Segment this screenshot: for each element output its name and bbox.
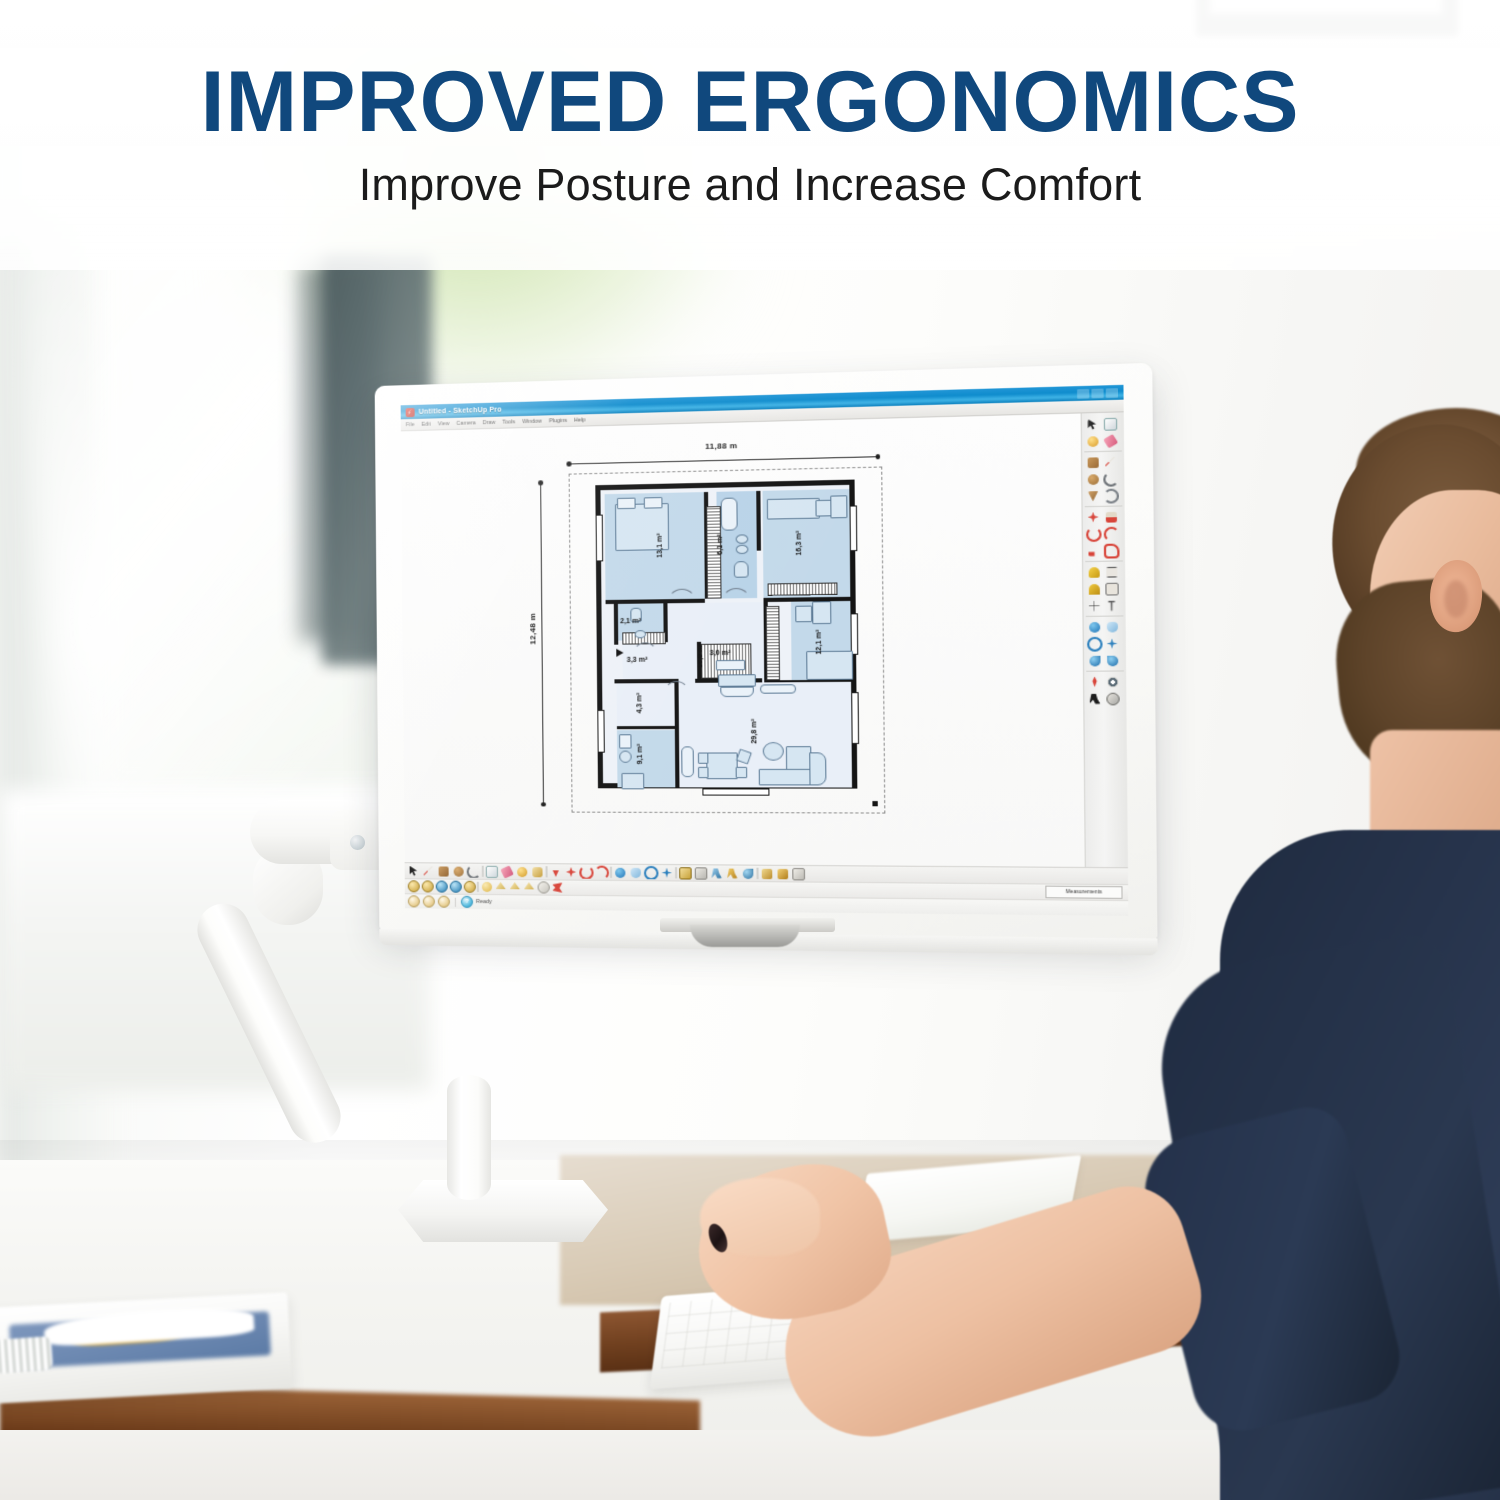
style-textured-icon[interactable]	[449, 881, 462, 893]
furniture-kitchen-sink	[619, 734, 631, 748]
arc-icon[interactable]	[467, 865, 481, 878]
monitor-screen: Untitled - SketchUp Pro File Edit View C…	[401, 385, 1129, 916]
furniture-stove	[621, 773, 644, 789]
drawing-canvas[interactable]: 11,88 m 12,48 m	[401, 413, 1085, 866]
window-opening-left-1	[596, 515, 604, 562]
promo-banner: IMPROVED ERGONOMICS Improve Posture and …	[0, 0, 1500, 270]
eraser-icon[interactable]	[485, 865, 499, 878]
paint-bucket-icon[interactable]	[500, 865, 514, 878]
pan-icon[interactable]	[628, 866, 643, 879]
area-label-bathroom: 6,1 m²	[716, 534, 723, 555]
area-label-kitchen: 9,1 m²	[636, 744, 643, 765]
menu-item-draw[interactable]: Draw	[483, 419, 496, 425]
page-subtitle: Improve Posture and Increase Comfort	[359, 159, 1142, 211]
sketchup-app-icon	[406, 407, 415, 416]
shadow-icon[interactable]	[694, 866, 709, 879]
furniture-sofa	[759, 769, 812, 786]
component-icon[interactable]	[775, 867, 790, 881]
furniture-dining-table	[706, 752, 738, 779]
style-monochrome-icon[interactable]	[463, 881, 476, 893]
select-icon[interactable]	[407, 864, 421, 877]
monitor-arm-post	[447, 1075, 491, 1200]
statusbar-divider	[455, 897, 456, 906]
fog-settings-icon[interactable]	[423, 895, 435, 907]
furniture-appliance-2	[720, 687, 754, 697]
furniture-bathtub	[721, 498, 738, 531]
style-settings-icon[interactable]	[438, 896, 450, 908]
wall-2	[756, 491, 761, 551]
shadow-settings-icon[interactable]	[408, 895, 420, 907]
floorplan-drawing: 11,88 m 12,48 m	[522, 432, 925, 867]
walk-icon[interactable]	[709, 866, 724, 879]
toolbar-separator	[546, 866, 548, 877]
area-label-utility: 3,0 m²	[709, 650, 730, 657]
window-opening-right-1	[849, 505, 857, 551]
help-icon[interactable]: ?	[461, 896, 473, 908]
orbit-icon[interactable]	[613, 866, 628, 879]
furniture-bed-2	[767, 498, 820, 520]
wall-6	[614, 604, 618, 645]
furniture-counter-2	[760, 684, 796, 694]
monitor: Untitled - SketchUp Pro File Edit View C…	[375, 363, 1158, 941]
toolbar-separator	[482, 866, 484, 877]
door-swing-1	[667, 589, 696, 618]
seated-person	[1070, 330, 1500, 1500]
top-view-icon[interactable]	[522, 881, 535, 893]
furniture-sink-3	[635, 630, 646, 638]
window-opening-left-2	[597, 710, 605, 753]
closet-shelf	[768, 582, 838, 595]
furniture-bed-3	[806, 651, 853, 680]
area-label-bedroom-right: 16,3 m²	[795, 531, 803, 556]
toolbar-separator	[610, 867, 612, 878]
furniture-kitchen-basin	[619, 751, 631, 763]
status-text: Ready	[476, 899, 492, 905]
furniture-desk-2	[812, 601, 831, 624]
furniture-pillow-1	[617, 498, 636, 510]
style-hidden-line-icon[interactable]	[421, 880, 434, 892]
iso-view-icon[interactable]	[508, 881, 521, 893]
monitor-arm-tension-knob[interactable]	[350, 835, 365, 850]
menu-item-tools[interactable]: Tools	[502, 419, 515, 425]
spiral-notebook-coil	[0, 1336, 53, 1374]
menu-item-file[interactable]: File	[406, 421, 415, 427]
front-view-icon[interactable]	[537, 881, 550, 893]
area-label-pantry: 4,3 m²	[636, 693, 643, 714]
layers-icon[interactable]	[791, 867, 806, 881]
menu-item-camera[interactable]: Camera	[456, 420, 475, 427]
window-opening-right-3	[851, 692, 859, 744]
selection-handle[interactable]	[872, 801, 877, 806]
furniture-toilet-1	[734, 561, 749, 578]
toolbar-separator	[675, 867, 677, 878]
furniture-counter-1	[716, 660, 745, 671]
position-camera-icon[interactable]	[741, 867, 756, 880]
rotate-icon[interactable]	[549, 865, 563, 878]
monitor-arm-desk-clamp-base	[398, 1180, 608, 1242]
page-title: IMPROVED ERGONOMICS	[201, 59, 1300, 145]
look-around-icon[interactable]	[725, 866, 740, 879]
furniture-sideboard	[681, 746, 694, 777]
vertical-dimension-label: 12,48 m	[527, 583, 537, 674]
menu-item-window[interactable]: Window	[522, 418, 542, 425]
xray-icon[interactable]	[551, 881, 564, 893]
house-outline: 13,1 m² 6,1 m² 16,3 m² 2,1 m² 10,9 m² 12…	[595, 480, 857, 789]
toolbar-separator	[756, 868, 758, 879]
offset-icon[interactable]	[579, 865, 593, 878]
furniture-sofa-corner	[809, 752, 826, 785]
tape-measure-icon[interactable]	[595, 866, 609, 879]
zoom-extents-icon[interactable]	[659, 866, 674, 879]
horizontal-dimension-label: 11,88 m	[522, 436, 928, 455]
menu-item-plugins[interactable]: Plugins	[549, 417, 567, 424]
furniture-armchair	[786, 746, 812, 771]
furniture-appliance-1	[718, 674, 756, 687]
circle-icon[interactable]	[452, 865, 466, 878]
horizontal-dimension-line	[569, 456, 878, 464]
move-icon[interactable]	[515, 865, 529, 878]
zoom-icon[interactable]	[644, 866, 659, 879]
area-label-hall: 10,9 m²	[696, 643, 704, 668]
shadow-toggle-icon[interactable]	[480, 881, 493, 893]
menu-item-help[interactable]: Help	[574, 417, 585, 423]
person-ear-inner	[1444, 580, 1468, 618]
area-label-wc: 2,1 m²	[620, 618, 641, 625]
scale-icon[interactable]	[564, 865, 578, 878]
area-label-bedroom-lower-right: 12,1 m²	[815, 630, 823, 655]
area-label-bedroom-left: 13,1 m²	[656, 533, 663, 558]
style-wireframe-icon[interactable]	[407, 880, 420, 892]
window-title: Untitled - SketchUp Pro	[419, 406, 502, 415]
push-pull-icon[interactable]	[530, 865, 544, 878]
monitor-arm-vesa-plate	[690, 925, 800, 947]
wall-12	[617, 726, 675, 729]
toolbar-separator	[477, 882, 479, 892]
furniture-chair-2	[795, 606, 812, 623]
furniture-dining-chair-2	[698, 767, 709, 778]
menu-item-view[interactable]: View	[438, 421, 450, 427]
furniture-coffee-table	[763, 742, 784, 761]
style-shaded-icon[interactable]	[435, 880, 448, 892]
app-body: 11,88 m 12,48 m	[401, 412, 1128, 867]
window-opening-bottom	[702, 788, 769, 795]
area-label-living-room: 29,8 m²	[750, 719, 758, 744]
warehouse-icon[interactable]	[760, 867, 775, 881]
menu-item-edit[interactable]: Edit	[421, 421, 430, 427]
line-icon[interactable]	[422, 864, 436, 877]
section-plane-icon[interactable]	[678, 866, 693, 879]
door-swing-2	[721, 588, 751, 617]
furniture-desk-1	[830, 495, 847, 518]
entry-direction-arrow	[616, 649, 623, 657]
window-opening-right-2	[850, 613, 858, 655]
furniture-dining-chair-1	[698, 753, 709, 764]
stairs-side	[766, 606, 780, 680]
furniture-pillow-2	[644, 497, 663, 509]
area-label-entry: 3,3 m²	[627, 657, 648, 664]
door-swing-4	[664, 681, 689, 706]
furniture-dining-chair-4	[736, 767, 748, 778]
vertical-dimension-line	[540, 482, 544, 804]
rectangle-icon[interactable]	[437, 864, 451, 877]
fog-icon[interactable]	[494, 881, 507, 893]
